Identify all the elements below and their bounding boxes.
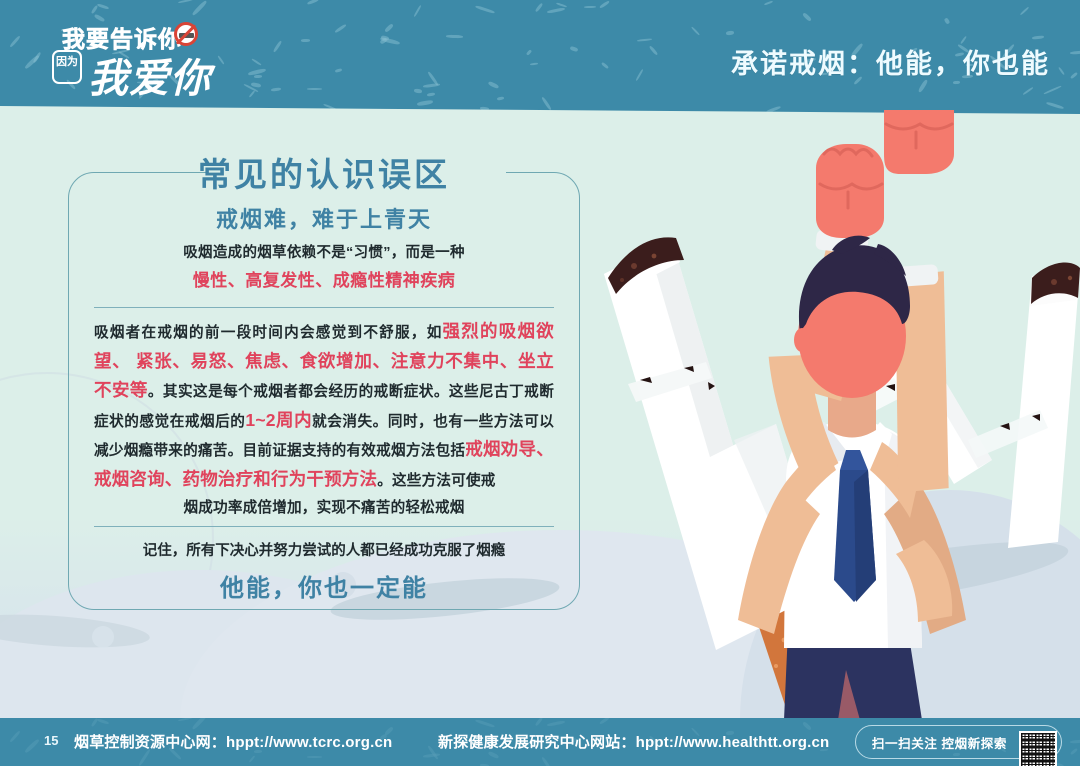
logo-badge-text: 因为 [56,56,78,68]
card-title: 常见的认识误区 [68,154,580,196]
man-figure [738,110,966,720]
logo-line-2: 我爱你 [88,46,211,104]
raised-fist-left [816,144,884,238]
closing-line-2: 他能，你也一定能 [94,566,554,612]
footer-link-1[interactable]: 烟草控制资源中心网：hppt://www.tcrc.org.cn [74,731,392,752]
card-lead: 吸烟造成的烟草依赖不是“习惯”，而是一种 慢性、高复发性、成瘾性精神疾病 [94,240,554,296]
raised-fist-right [884,110,954,174]
card-subtitle: 戒烟难，难于上青天 [68,202,580,234]
lead-line-2: 慢性、高复发性、成瘾性精神疾病 [94,266,554,296]
body-seg-8: 烟成功率成倍增加，实现不痛苦的轻松戒烟 [94,495,554,523]
header-slogan: 承诺戒烟：他能，你也能 [731,42,1050,81]
qr-code-icon [1019,731,1057,766]
card-body: 吸烟者在戒烟的前一段时间内会感觉到不舒服，如强烈的吸烟欲望、 紧张、易怒、焦虑、… [94,318,554,523]
header-band: 我要告诉你 因为 我爱你 承诺戒烟：他能，你也能 [0,0,1080,122]
qr-callout[interactable]: 扫一扫关注 控烟新探索 [855,725,1062,759]
body-seg-1: 吸烟者在戒烟的前一段时间内会感觉到不舒服，如 [94,325,443,341]
page-number: 15 [44,733,58,748]
divider-top [94,307,554,308]
card-closing: 记住，所有下决心并努力尝试的人都已经成功克服了烟瘾 他能，你也一定能 [94,536,554,612]
lead-line-1: 吸烟造成的烟草依赖不是“习惯”，而是一种 [94,240,554,266]
logo-badge-because: 因为 [52,50,82,84]
content-card: 常见的认识误区 戒烟难，难于上青天 吸烟造成的烟草依赖不是“习惯”，而是一种 慢… [68,172,580,610]
illustration-svg [588,110,1080,720]
qr-label: 扫一扫关注 控烟新探索 [872,733,1007,752]
closing-line-1: 记住，所有下决心并努力尝试的人都已经成功克服了烟瘾 [94,536,554,566]
campaign-logo: 我要告诉你 因为 我爱你 [46,20,246,94]
background-dot-2 [92,626,114,648]
footer-bar: 15 烟草控制资源中心网：hppt://www.tcrc.org.cn 新探健康… [0,718,1080,766]
body-seg-7: 。这些方法可使戒 [377,473,495,489]
divider-bottom [94,526,554,527]
poster-root: 我要告诉你 因为 我爱你 承诺戒烟：他能，你也能 [0,0,1080,766]
no-smoking-icon [174,22,198,46]
body-seg-4-highlight: 1~2周内 [245,410,312,430]
illustration-area [588,110,1080,720]
footer-link-2[interactable]: 新探健康发展研究中心网站：hppt://www.healthtt.org.cn [438,731,829,752]
